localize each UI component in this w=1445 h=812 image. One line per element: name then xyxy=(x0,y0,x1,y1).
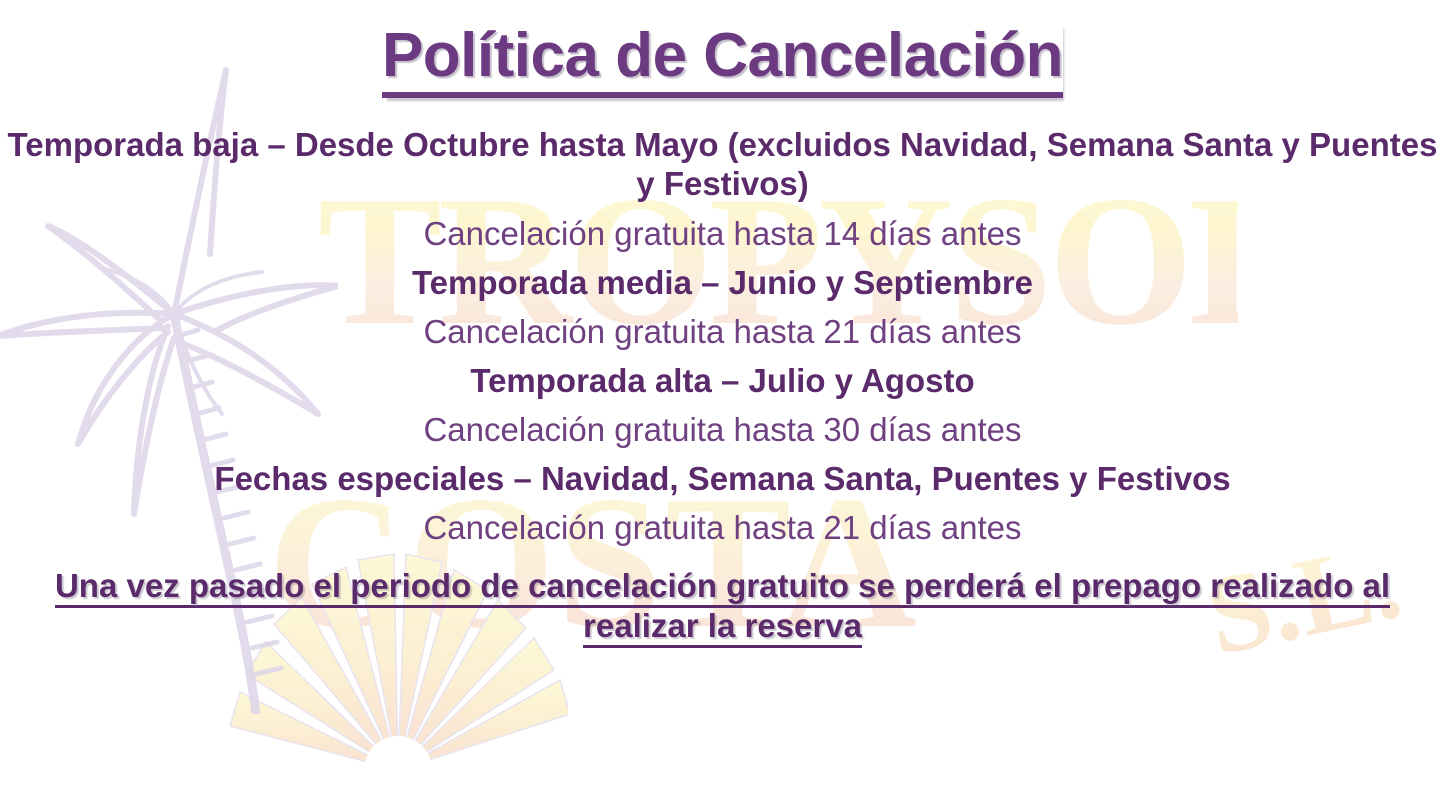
policy-footer-note-text: Una vez pasado el periodo de cancelación… xyxy=(55,567,1390,648)
page-title-text: Política de Cancelación xyxy=(382,22,1063,98)
season-heading-low: Temporada baja – Desde Octubre hasta May… xyxy=(0,126,1445,204)
season-heading-mid: Temporada media – Junio y Septiembre xyxy=(0,262,1445,302)
season-heading-special: Fechas especiales – Navidad, Semana Sant… xyxy=(0,458,1445,498)
season-rule-mid: Cancelación gratuita hasta 21 días antes xyxy=(0,302,1445,360)
page-title: Política de Cancelación xyxy=(0,22,1445,98)
cancellation-policy-slide: TROPYSOL COSTA S.L. xyxy=(0,0,1445,812)
season-rule-high: Cancelación gratuita hasta 30 días antes xyxy=(0,400,1445,458)
season-rule-special: Cancelación gratuita hasta 21 días antes xyxy=(0,498,1445,556)
season-heading-high: Temporada alta – Julio y Agosto xyxy=(0,360,1445,400)
policy-footer-note: Una vez pasado el periodo de cancelación… xyxy=(0,556,1445,647)
slide-content: Política de Cancelación Temporada baja –… xyxy=(0,0,1445,812)
season-rule-low: Cancelación gratuita hasta 14 días antes xyxy=(0,204,1445,262)
policy-list: Temporada baja – Desde Octubre hasta May… xyxy=(0,126,1445,646)
